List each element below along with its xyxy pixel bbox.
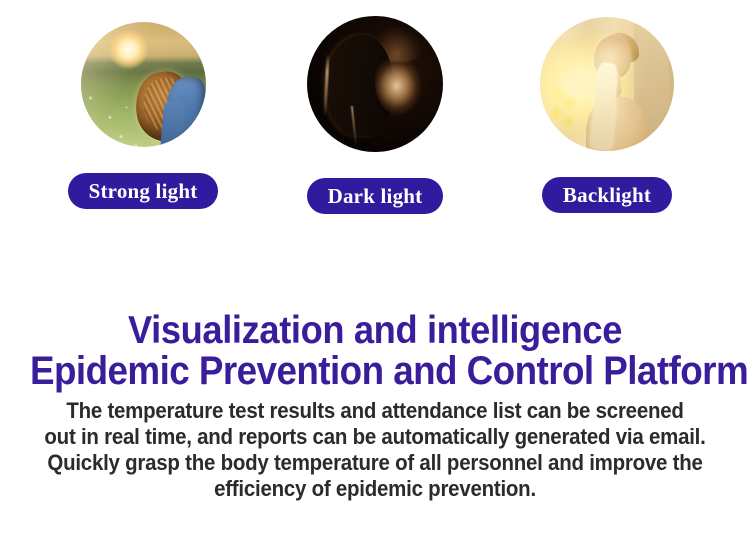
decor-flowers: [548, 81, 583, 129]
page-description: The temperature test results and attenda…: [0, 398, 750, 502]
photo-dark-light-image: [307, 16, 443, 152]
page-description-line-2: out in real time, and reports can be aut…: [26, 424, 724, 450]
page-title-line-1: Visualization and intelligence: [26, 310, 724, 351]
decor-hair-highlight: [375, 46, 429, 117]
photo-strong-light: [81, 22, 206, 147]
lighting-card-dark-light: Dark light: [303, 22, 448, 214]
badge-dark-light[interactable]: Dark light: [307, 178, 444, 214]
page-title: Visualization and intelligence Epidemic …: [0, 310, 750, 392]
badge-backlight[interactable]: Backlight: [542, 177, 672, 213]
page-description-line-1: The temperature test results and attenda…: [26, 398, 724, 424]
page-description-line-4: efficiency of epidemic prevention.: [26, 476, 724, 502]
page-description-line-3: Quickly grasp the body temperature of al…: [26, 450, 724, 476]
photo-backlight-image: [540, 17, 674, 151]
lighting-conditions-row: Strong light Dark light: [0, 22, 750, 214]
photo-backlight: [540, 17, 674, 151]
badge-strong-light[interactable]: Strong light: [68, 173, 219, 209]
photo-strong-light-image: [81, 22, 206, 147]
lighting-card-backlight: Backlight: [535, 22, 680, 213]
lighting-card-strong-light: Strong light: [71, 22, 216, 209]
page-title-line-2: Epidemic Prevention and Control Platform: [30, 351, 720, 392]
photo-dark-light: [307, 16, 443, 152]
decor-sleeve-lower: [160, 101, 186, 147]
